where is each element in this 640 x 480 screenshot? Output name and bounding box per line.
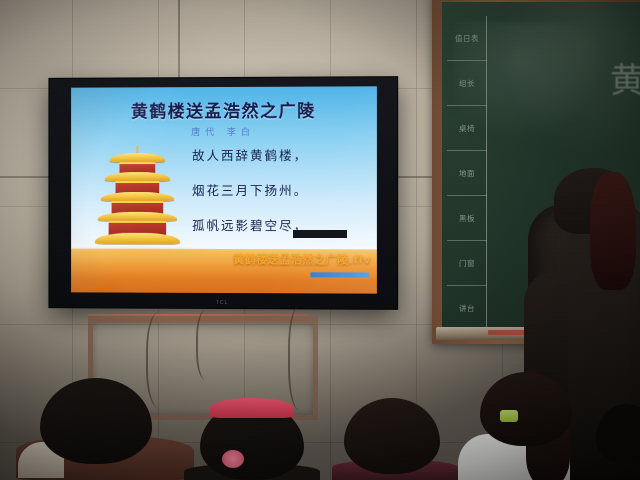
student-ponytail-green-clip [452,372,602,480]
chalk-character-huang: 黄 [610,64,640,98]
roster-label: 讲台 [459,303,475,314]
tv-mount-neck [293,230,347,238]
tv-screen[interactable]: 黄鹤楼送孟浩然之广陵 唐代 李白 故人西辞黄鹤楼， [71,86,377,293]
roster-label: 组长 [459,78,475,89]
student-red-headband [186,394,318,480]
student-head [344,398,440,474]
tv-brand-logo: TCL [216,300,228,306]
hair-flower-clip [222,450,244,468]
green-hair-clip [500,410,518,422]
duty-roster-column: 值日表 组长 桌椅 地面 黑板 门窗 讲台 [447,16,487,331]
student-head [596,404,640,464]
pagoda-roof-4 [98,212,177,221]
roster-row: 地面 [447,151,487,196]
classroom-photo-scene: 值日表 组长 桌椅 地面 黑板 门窗 讲台 黄 黄鹤楼送孟浩然之广陵 唐代 李白 [0,0,640,480]
teacher-hair [590,172,636,290]
poem-line: 烟花三月下扬州。 [192,180,369,199]
roster-row: 讲台 [447,286,487,331]
signal-cable [196,310,220,380]
poem-line: 故人西辞黄鹤楼， [192,145,369,164]
student-short-hair [336,398,452,480]
student-head [480,372,572,446]
roster-label: 值日表 [455,33,479,44]
roster-row: 桌椅 [447,106,487,151]
roster-row: 门窗 [447,241,487,286]
roster-label: 桌椅 [459,123,475,134]
slide-author: 唐代 李白 [71,125,377,139]
roster-row: 黑板 [447,196,487,241]
player-progress-bar[interactable] [310,272,369,277]
presentation-slide: 黄鹤楼送孟浩然之广陵 唐代 李白 故人西辞黄鹤楼， [71,86,377,293]
roster-label: 黑板 [459,213,475,224]
roster-label: 地面 [459,168,475,179]
red-headband [210,398,294,418]
pagoda-roof-1 [110,153,166,162]
roster-row: 组长 [447,61,487,106]
pagoda-roof-2 [105,172,170,181]
player-filename-overlay: 黄鹤楼送孟浩然之广陵.flv [233,251,371,267]
television[interactable]: 黄鹤楼送孟浩然之广陵 唐代 李白 故人西辞黄鹤楼， [49,77,397,309]
student-foreground-right [596,404,640,480]
student-brown-jacket [16,378,194,480]
roster-label: 门窗 [459,258,475,269]
pagoda-roof-3 [101,192,174,201]
slide-title: 黄鹤楼送孟浩然之广陵 [71,96,377,122]
roster-row: 值日表 [447,16,487,61]
student-head [40,378,152,464]
